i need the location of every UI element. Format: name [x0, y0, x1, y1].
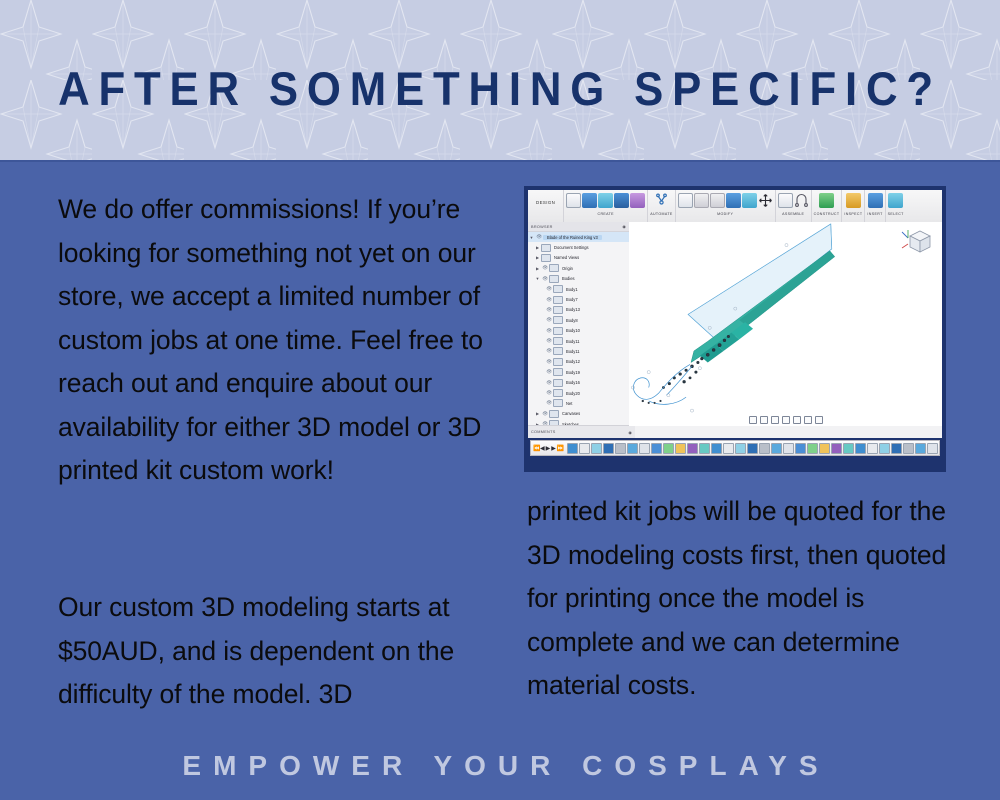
visibility-eye-icon[interactable]: 👁 — [545, 400, 553, 406]
toolbar-group-select[interactable]: SELECT — [886, 190, 906, 222]
tree-item-label: Net — [565, 401, 572, 406]
body-icon — [553, 296, 563, 304]
tree-item-body[interactable]: 👁Body13 — [528, 305, 629, 315]
visibility-eye-icon[interactable]: 👁 — [545, 317, 553, 323]
timeline-features[interactable]: ⏪ ◀ ▶ ▶ ⏩ — [530, 440, 940, 456]
visibility-eye-icon[interactable]: 👁 — [545, 348, 553, 354]
visibility-eye-icon[interactable]: 👁 — [545, 380, 553, 386]
body-icon — [553, 347, 563, 355]
tree-item-label: Canvases — [561, 411, 580, 416]
comments-panel-header[interactable]: COMMENTS ◉ — [528, 425, 635, 438]
bodies-folder-icon — [549, 275, 559, 283]
timeline-play-icon[interactable]: ▶ — [546, 445, 551, 452]
page-title: AFTER SOMETHING SPECIFIC? — [35, 0, 965, 162]
toolbar-group-construct[interactable]: CONSTRUCT — [812, 190, 843, 222]
tree-item-label: Body20 — [565, 391, 580, 396]
sweep-icon[interactable] — [614, 193, 629, 208]
timeline-feature-icon[interactable] — [699, 443, 710, 454]
tree-item-body[interactable]: 👁Body11 — [528, 336, 629, 346]
select-arrow-icon[interactable] — [888, 193, 903, 208]
toolbar-label-select: SELECT — [888, 211, 904, 217]
document-settings-icon — [541, 244, 551, 252]
tree-item-label: Origin — [561, 266, 573, 271]
visibility-eye-icon[interactable]: 👁 — [545, 297, 553, 303]
timeline-feature-icon[interactable] — [639, 443, 650, 454]
comments-panel-title: COMMENTS — [531, 430, 556, 434]
timeline-feature-icon[interactable] — [579, 443, 590, 454]
new-component-icon[interactable] — [778, 193, 793, 208]
timeline-next-icon[interactable]: ▶ — [551, 445, 556, 452]
body-icon — [553, 316, 563, 324]
tree-item-label: Body16 — [565, 380, 580, 385]
toolbar-group-assemble[interactable]: ASSEMBLE — [776, 190, 812, 222]
shell-icon[interactable] — [726, 193, 741, 208]
timeline-feature-icon[interactable] — [807, 443, 818, 454]
press-pull-icon[interactable] — [678, 193, 693, 208]
toolbar-label-create: CREATE — [598, 211, 614, 217]
visibility-eye-icon[interactable]: 👁 — [545, 328, 553, 334]
footer-tagline: EMPOWER YOUR COSPLAYS — [0, 750, 1000, 782]
draft-icon[interactable] — [742, 193, 757, 208]
toolbar-label-insert: INSERT — [867, 211, 882, 217]
timeline-feature-icon[interactable] — [735, 443, 746, 454]
timeline-feature-icon[interactable] — [567, 443, 578, 454]
timeline-feature-icon[interactable] — [627, 443, 638, 454]
body-icon — [553, 379, 563, 387]
timeline-feature-icon[interactable] — [903, 443, 914, 454]
visibility-eye-icon[interactable]: 👁 — [541, 265, 549, 271]
timeline-feature-icon[interactable] — [915, 443, 926, 454]
tree-item-label: Body11 — [565, 339, 580, 344]
collapse-arrow-icon[interactable]: ▼ — [534, 276, 541, 281]
view-cube-icon[interactable] — [896, 226, 936, 260]
tree-item-label: Body1 — [565, 287, 578, 292]
timeline-feature-icon[interactable] — [795, 443, 806, 454]
expand-arrow-icon[interactable]: ▶ — [534, 411, 541, 416]
move-copy-icon[interactable] — [758, 193, 773, 208]
timeline-feature-icon[interactable] — [855, 443, 866, 454]
tree-item-bodies[interactable]: ▼ 👁 Bodies — [528, 274, 629, 284]
measure-icon[interactable] — [846, 193, 861, 208]
timeline-feature-icon[interactable] — [759, 443, 770, 454]
visibility-eye-icon[interactable]: 👁 — [545, 338, 553, 344]
body-icon — [553, 358, 563, 366]
timeline-feature-icon[interactable] — [603, 443, 614, 454]
visibility-eye-icon[interactable]: 👁 — [535, 234, 543, 240]
timeline-feature-icon[interactable] — [651, 443, 662, 454]
paragraph-quoting: printed kit jobs will be quoted for the … — [527, 490, 957, 708]
visibility-eye-icon[interactable]: 👁 — [541, 411, 549, 417]
zoom-icon[interactable] — [771, 416, 779, 424]
tree-item-body[interactable]: 👁Body8 — [528, 315, 629, 325]
timeline-feature-icon[interactable] — [747, 443, 758, 454]
tree-item-label: Document Settings — [553, 245, 589, 250]
toolbar-group-automate[interactable]: AUTOMATE — [648, 190, 675, 222]
browser-panel-title: BROWSER — [531, 225, 553, 229]
tree-item-body[interactable]: 👁Body10 — [528, 326, 629, 336]
collapse-arrow-icon[interactable]: ▼ — [528, 235, 535, 240]
toolbar-label-assemble: ASSEMBLE — [782, 211, 804, 217]
viewports-icon[interactable] — [815, 416, 823, 424]
timeline-feature-icon[interactable] — [771, 443, 782, 454]
timeline-feature-icon[interactable] — [831, 443, 842, 454]
extrude-icon[interactable] — [582, 193, 597, 208]
timeline-feature-icon[interactable] — [675, 443, 686, 454]
browser-settings-icon[interactable]: ◉ — [622, 224, 626, 229]
timeline-feature-icon[interactable] — [891, 443, 902, 454]
timeline-feature-icons — [567, 443, 940, 454]
tree-root-label: Blade of the Ruined King v3 — [543, 235, 602, 240]
tree-item-label: Body13 — [565, 307, 580, 312]
timeline-feature-icon[interactable] — [663, 443, 674, 454]
named-views-icon — [541, 254, 551, 262]
tree-item-body[interactable]: 👁Body12 — [528, 357, 629, 367]
visibility-eye-icon[interactable]: 👁 — [545, 390, 553, 396]
tree-item-label: Body10 — [565, 328, 580, 333]
browser-panel-header: BROWSER ◉ — [528, 222, 629, 232]
toolbar-group-insert[interactable]: INSERT — [865, 190, 885, 222]
visibility-eye-icon[interactable]: 👁 — [545, 359, 553, 365]
timeline-feature-icon[interactable] — [867, 443, 878, 454]
tree-item-canvases[interactable]: ▶ 👁 Canvases — [528, 409, 629, 419]
orbit-icon[interactable] — [749, 416, 757, 424]
tree-item-body[interactable]: 👁Body20 — [528, 388, 629, 398]
tree-item-body[interactable]: 👁Body19 — [528, 367, 629, 377]
tree-item-origin[interactable]: ▶ 👁 Origin — [528, 263, 629, 273]
timeline-bar[interactable]: ⏪ ◀ ▶ ▶ ⏩ — [528, 438, 942, 468]
body-icon — [553, 399, 563, 407]
timeline-last-icon[interactable]: ⏩ — [557, 445, 563, 452]
timeline-first-icon[interactable]: ⏪ — [533, 445, 539, 452]
cad-screenshot-embed: DESIGN CREATE — [524, 186, 946, 472]
cad-viewport[interactable] — [629, 222, 942, 426]
fillet-icon[interactable] — [694, 193, 709, 208]
tree-item-named-views[interactable]: ▶ Named Views — [528, 253, 629, 263]
joint-icon[interactable] — [794, 193, 809, 208]
expand-arrow-icon[interactable]: ▶ — [534, 245, 541, 250]
browser-panel[interactable]: BROWSER ◉ ▼ 👁 Blade of the Ruined King v… — [528, 222, 630, 426]
canvases-icon — [549, 410, 559, 418]
insert-mcmaster-icon[interactable] — [868, 193, 883, 208]
chamfer-icon[interactable] — [710, 193, 725, 208]
display-settings-icon[interactable] — [793, 416, 801, 424]
timeline-prev-icon[interactable]: ◀ — [540, 445, 545, 452]
fit-icon[interactable] — [782, 416, 790, 424]
body-icon — [553, 306, 563, 314]
expand-arrow-icon[interactable]: ▶ — [534, 266, 541, 271]
toolbar-group-create[interactable]: CREATE — [564, 190, 648, 222]
sketch-icon[interactable] — [566, 193, 581, 208]
design-menu-label: DESIGN — [530, 190, 561, 205]
tree-item-label: Body11 — [565, 349, 580, 354]
tree-item-label: Body8 — [565, 318, 578, 323]
timeline-feature-icon[interactable] — [783, 443, 794, 454]
fusion360-window: DESIGN CREATE — [528, 190, 942, 468]
loft-icon[interactable] — [630, 193, 645, 208]
tree-item-body[interactable]: 👁Body11 — [528, 346, 629, 356]
bodies-list: 👁Body1👁Body7👁Body13👁Body8👁Body10👁Body11👁… — [528, 284, 629, 409]
timeline-feature-icon[interactable] — [939, 443, 940, 454]
timeline-feature-icon[interactable] — [615, 443, 626, 454]
tree-item-label: Body12 — [565, 359, 580, 364]
tree-root-node[interactable]: ▼ 👁 Blade of the Ruined King v3 — [528, 232, 629, 242]
body-icon — [553, 389, 563, 397]
visibility-eye-icon[interactable]: 👁 — [545, 286, 553, 292]
viewport-navigation-bar[interactable] — [749, 416, 823, 424]
comments-settings-icon[interactable]: ◉ — [628, 430, 632, 435]
header-divider — [0, 160, 1000, 162]
tree-item-label: Named Views — [553, 255, 579, 260]
body-icon — [553, 337, 563, 345]
tree-item-label: Bodies — [561, 276, 575, 281]
timeline-feature-icon[interactable] — [843, 443, 854, 454]
body-icon — [553, 368, 563, 376]
paragraph-commissions: We do offer commissions! If you’re looki… — [58, 188, 510, 493]
revolve-icon[interactable] — [598, 193, 613, 208]
toolbar-group-modify[interactable]: MODIFY — [676, 190, 776, 222]
tree-item-body[interactable]: 👁Net — [528, 398, 629, 408]
toolbar-label-automate: AUTOMATE — [650, 211, 672, 217]
toolbar-group-inspect[interactable]: INSPECT — [842, 190, 865, 222]
paragraph-pricing: Our custom 3D modeling starts at $50AUD,… — [58, 586, 510, 717]
tree-item-body[interactable]: 👁Body7 — [528, 294, 629, 304]
toolbar-label-modify: MODIFY — [717, 211, 733, 217]
timeline-feature-icon[interactable] — [687, 443, 698, 454]
body-icon — [553, 327, 563, 335]
timeline-feature-icon[interactable] — [879, 443, 890, 454]
tree-item-label: Body7 — [565, 297, 578, 302]
body-icon — [553, 285, 563, 293]
grid-snap-icon[interactable] — [804, 416, 812, 424]
offset-plane-icon[interactable] — [819, 193, 834, 208]
tree-item-body[interactable]: 👁Body16 — [528, 377, 629, 387]
automate-icon[interactable] — [654, 193, 669, 208]
visibility-eye-icon[interactable]: 👁 — [545, 307, 553, 313]
tree-item-label: Body19 — [565, 370, 580, 375]
origin-icon — [549, 264, 559, 272]
timeline-feature-icon[interactable] — [711, 443, 722, 454]
cad-toolbar: DESIGN CREATE — [528, 190, 942, 223]
header-banner: AFTER SOMETHING SPECIFIC? — [0, 0, 1000, 162]
toolbar-label-construct: CONSTRUCT — [814, 211, 840, 217]
tree-item-body[interactable]: 👁Body1 — [528, 284, 629, 294]
timeline-feature-icon[interactable] — [723, 443, 734, 454]
poster-canvas: AFTER SOMETHING SPECIFIC? We do offer co… — [0, 0, 1000, 800]
tree-item-document-settings[interactable]: ▶ Document Settings — [528, 242, 629, 252]
design-workspace-menu[interactable]: DESIGN — [528, 190, 564, 222]
toolbar-label-inspect: INSPECT — [844, 211, 862, 217]
timeline-feature-icon[interactable] — [927, 443, 938, 454]
expand-arrow-icon[interactable]: ▶ — [534, 255, 541, 260]
timeline-feature-icon[interactable] — [591, 443, 602, 454]
timeline-feature-icon[interactable] — [819, 443, 830, 454]
pan-icon[interactable] — [760, 416, 768, 424]
visibility-eye-icon[interactable]: 👁 — [541, 276, 549, 282]
visibility-eye-icon[interactable]: 👁 — [545, 369, 553, 375]
